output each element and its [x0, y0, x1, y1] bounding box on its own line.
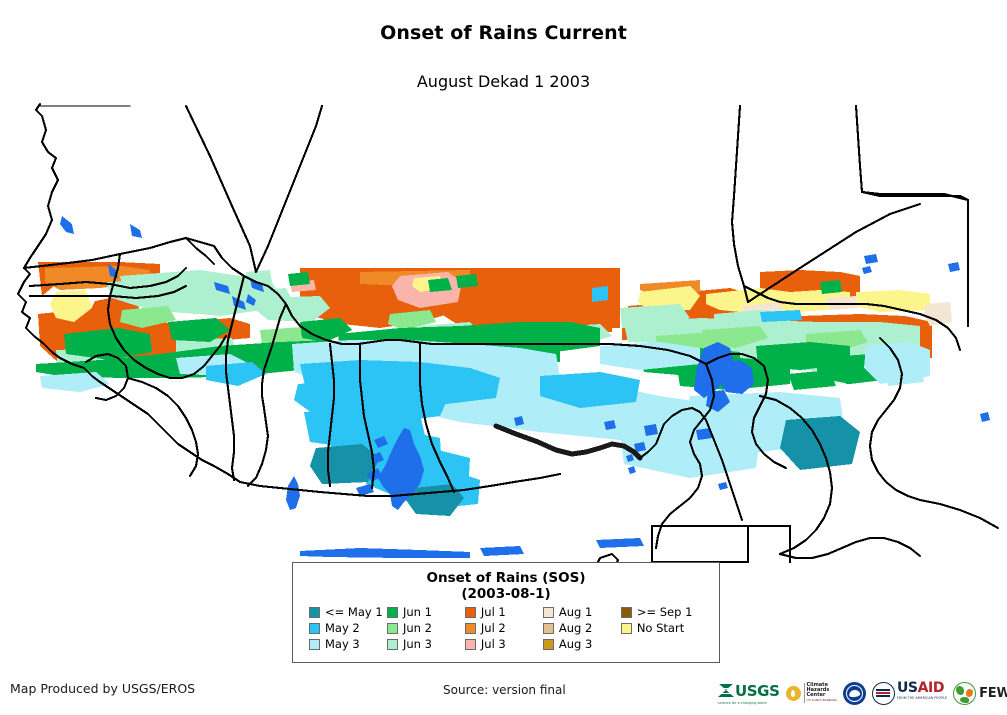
legend-swatch-jun2 [387, 623, 398, 634]
legend-swatch-may1 [309, 607, 320, 618]
legend-swatch-aug3 [543, 639, 554, 650]
globe-icon [953, 682, 976, 705]
legend-grid: <= May 1 May 2 May 3 Jun 1 Jun 2 J [301, 605, 711, 652]
legend-label-sep1: >= Sep 1 [637, 606, 693, 619]
legend-label-jun2: Jun 2 [403, 622, 432, 635]
usgs-logo[interactable]: USGS science for a changing world [718, 682, 780, 705]
legend-entry-jun1[interactable]: Jun 1 [387, 605, 465, 620]
usaid-tagline: FROM THE AMERICAN PEOPLE [897, 693, 947, 703]
cameroon-lake-b [644, 424, 658, 436]
legend-label-no-start: No Start [637, 622, 684, 635]
map-canvas[interactable] [0, 96, 1007, 566]
legend-entry-aug3[interactable]: Aug 3 [543, 637, 621, 652]
usaid-logo[interactable]: USAID FROM THE AMERICAN PEOPLE [872, 682, 947, 705]
noaa-seal-icon [843, 682, 866, 705]
legend-label-jun1: Jun 1 [403, 606, 432, 619]
noaa-bird-icon [849, 689, 861, 697]
legend-entry-jun2[interactable]: Jun 2 [387, 621, 465, 636]
usgs-mark-icon [718, 683, 734, 698]
legend-entry-sep1[interactable]: >= Sep 1 [621, 605, 711, 620]
map-legend: Onset of Rains (SOS) (2003-08-1) <= May … [292, 562, 720, 663]
page-title: Onset of Rains Current [0, 22, 1007, 44]
legend-entry-aug1[interactable]: Aug 1 [543, 605, 621, 620]
legend-swatch-jul1 [465, 607, 476, 618]
legend-column-may: <= May 1 May 2 May 3 [309, 605, 387, 652]
page-subtitle: August Dekad 1 2003 [0, 72, 1007, 91]
legend-subtitle: (2003-08-1) [301, 586, 711, 602]
legend-entry-may2[interactable]: May 2 [309, 621, 387, 636]
usgs-wordmark: USGS [735, 682, 780, 700]
legend-label-aug2: Aug 2 [559, 622, 592, 635]
legend-swatch-no-start [621, 623, 632, 634]
chc-logo[interactable]: Climate Hazards Center UC SANTA BARBARA [786, 683, 837, 704]
fewsnet-wordmark: FEWS NET [979, 686, 1007, 701]
footer-credit: Map Produced by USGS/EROS [10, 681, 195, 696]
legend-swatch-aug1 [543, 607, 554, 618]
legend-swatch-jul3 [465, 639, 476, 650]
legend-entry-no-start[interactable]: No Start [621, 621, 711, 636]
footer-source: Source: version final [443, 683, 566, 697]
legend-label-aug3: Aug 3 [559, 638, 592, 651]
legend-entry-jul2[interactable]: Jul 2 [465, 621, 543, 636]
legend-label-may1: <= May 1 [325, 606, 383, 619]
legend-column-jun: Jun 1 Jun 2 Jun 3 [387, 605, 465, 652]
legend-label-aug1: Aug 1 [559, 606, 592, 619]
usgs-tagline: science for a changing world [718, 701, 780, 705]
legend-column-jul: Jul 1 Jul 2 Jul 3 [465, 605, 543, 652]
legend-swatch-jul2 [465, 623, 476, 634]
legend-swatch-may2 [309, 623, 320, 634]
legend-swatch-sep1 [621, 607, 632, 618]
legend-label-jul2: Jul 2 [481, 622, 506, 635]
logo-strip: USGS science for a changing world Climat… [718, 676, 1000, 710]
legend-column-aug: Aug 1 Aug 2 Aug 3 [543, 605, 621, 652]
chc-sub: UC SANTA BARBARA [807, 698, 837, 703]
legend-label-may2: May 2 [325, 622, 360, 635]
legend-label-jul3: Jul 3 [481, 638, 506, 651]
water-drop-icon [786, 686, 801, 701]
legend-entry-jul3[interactable]: Jul 3 [465, 637, 543, 652]
legend-label-jul1: Jul 1 [481, 606, 506, 619]
usaid-seal-icon [872, 682, 895, 705]
legend-swatch-jun1 [387, 607, 398, 618]
legend-label-may3: May 3 [325, 638, 360, 651]
legend-entry-jul1[interactable]: Jul 1 [465, 605, 543, 620]
legend-entry-jun3[interactable]: Jun 3 [387, 637, 465, 652]
fewsnet-logo[interactable]: FEWS NET [953, 682, 1007, 705]
legend-label-jun3: Jun 3 [403, 638, 432, 651]
legend-entry-may3[interactable]: May 3 [309, 637, 387, 652]
legend-column-sep: >= Sep 1 No Start [621, 605, 711, 652]
legend-entry-aug2[interactable]: Aug 2 [543, 621, 621, 636]
usaid-wordmark: USAID [897, 683, 947, 693]
legend-swatch-aug2 [543, 623, 554, 634]
legend-swatch-may3 [309, 639, 320, 650]
legend-swatch-jun3 [387, 639, 398, 650]
noaa-logo[interactable] [843, 682, 866, 705]
legend-entry-may1[interactable]: <= May 1 [309, 605, 387, 620]
legend-title: Onset of Rains (SOS) [301, 570, 711, 586]
